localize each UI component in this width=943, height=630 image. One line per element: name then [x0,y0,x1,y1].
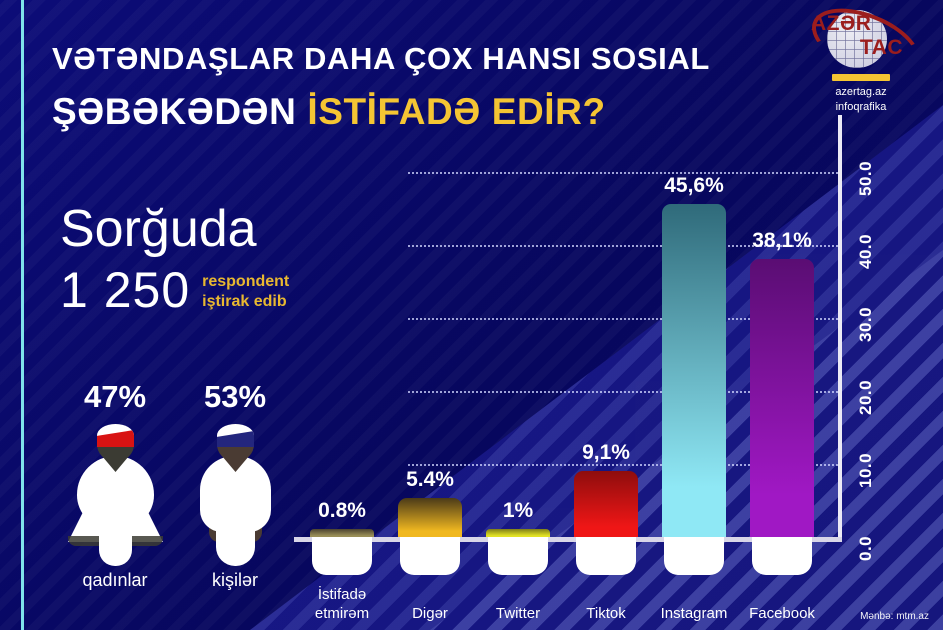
chart-y-axis [838,115,842,540]
bar-value-label: 9,1% [558,441,654,465]
bar-pedestal [488,537,548,575]
bar[interactable] [662,204,726,537]
survey-heading: Sorğuda [60,200,289,258]
women-percent: 47% [55,380,175,414]
gender-column-women: 47% qadınlar [55,380,175,591]
bar-category-label: Facebook [728,604,836,623]
bar-group[interactable]: 9,1%Tiktok [574,100,638,630]
logo-word-bottom: TAC [797,36,925,60]
survey-note-line-2: iştirak edib [202,292,289,312]
title-line-2-plain: ŞƏBƏKƏDƏN [52,91,307,132]
y-axis-tick-label: 30.0 [856,307,876,342]
bar[interactable] [398,498,462,537]
bar-value-label: 5.4% [382,468,478,492]
gender-breakdown: 47% qadınlar 53% kişilər [55,380,295,591]
bar-group[interactable]: 1%Twitter [486,100,550,630]
logo-word-top: AZƏR [797,12,925,36]
bar-pedestal [576,537,636,575]
gender-column-men: 53% kişilər [175,380,295,591]
left-accent-line [21,0,24,630]
bar-value-label: 0.8% [294,499,390,523]
title-line-1: VƏTƏNDAŞLAR DAHA ÇOX HANSI SOSIAL [52,38,652,80]
y-axis-tick-label: 50.0 [856,161,876,196]
source-note: Mənbə: mtm.az [860,611,929,622]
bar-pedestal [400,537,460,575]
bar-value-label: 45,6% [646,174,742,198]
bar-pedestal [664,537,724,575]
bar-group[interactable]: 45,6%Instagram [662,100,726,630]
survey-count: 1 250 [60,264,190,316]
survey-note-line-1: respondent [202,272,289,292]
survey-summary: Sorğuda 1 250 respondent iştirak edib [60,200,289,316]
bar-value-label: 38,1% [734,229,830,253]
bar[interactable] [750,259,814,537]
bar-pedestal [752,537,812,575]
azertac-logo[interactable]: AZƏR TAC azertag.az infoqrafika [797,8,925,115]
women-label: qadınlar [55,570,175,591]
survey-count-row: 1 250 respondent iştirak edib [60,264,289,316]
logo-site: azertag.az [797,85,925,100]
bar-group[interactable]: 0.8%İstifadəetmirəm [310,100,374,630]
bar-group[interactable]: 38,1%Facebook [750,100,814,630]
bar[interactable] [574,471,638,537]
bar-pedestal [312,537,372,575]
y-axis-tick-label: 0.0 [856,536,876,561]
man-figure-icon [175,418,295,566]
social-network-bar-chart: 0.010.020.030.040.050.0 0.8%İstifadəetmi… [288,100,943,630]
logo-mark: AZƏR TAC [797,8,925,70]
y-axis-tick-label: 40.0 [856,234,876,269]
bar-value-label: 1% [470,499,566,523]
bar[interactable] [486,529,550,537]
survey-note: respondent iştirak edib [202,272,289,316]
y-axis-tick-label: 20.0 [856,380,876,415]
men-percent: 53% [175,380,295,414]
woman-figure-icon [55,418,175,566]
infographic-canvas: VƏTƏNDAŞLAR DAHA ÇOX HANSI SOSIAL ŞƏBƏKƏ… [0,0,943,630]
bar[interactable] [310,529,374,537]
men-label: kişilər [175,570,295,591]
bar-group[interactable]: 5.4%Digər [398,100,462,630]
y-axis-tick-label: 10.0 [856,453,876,488]
